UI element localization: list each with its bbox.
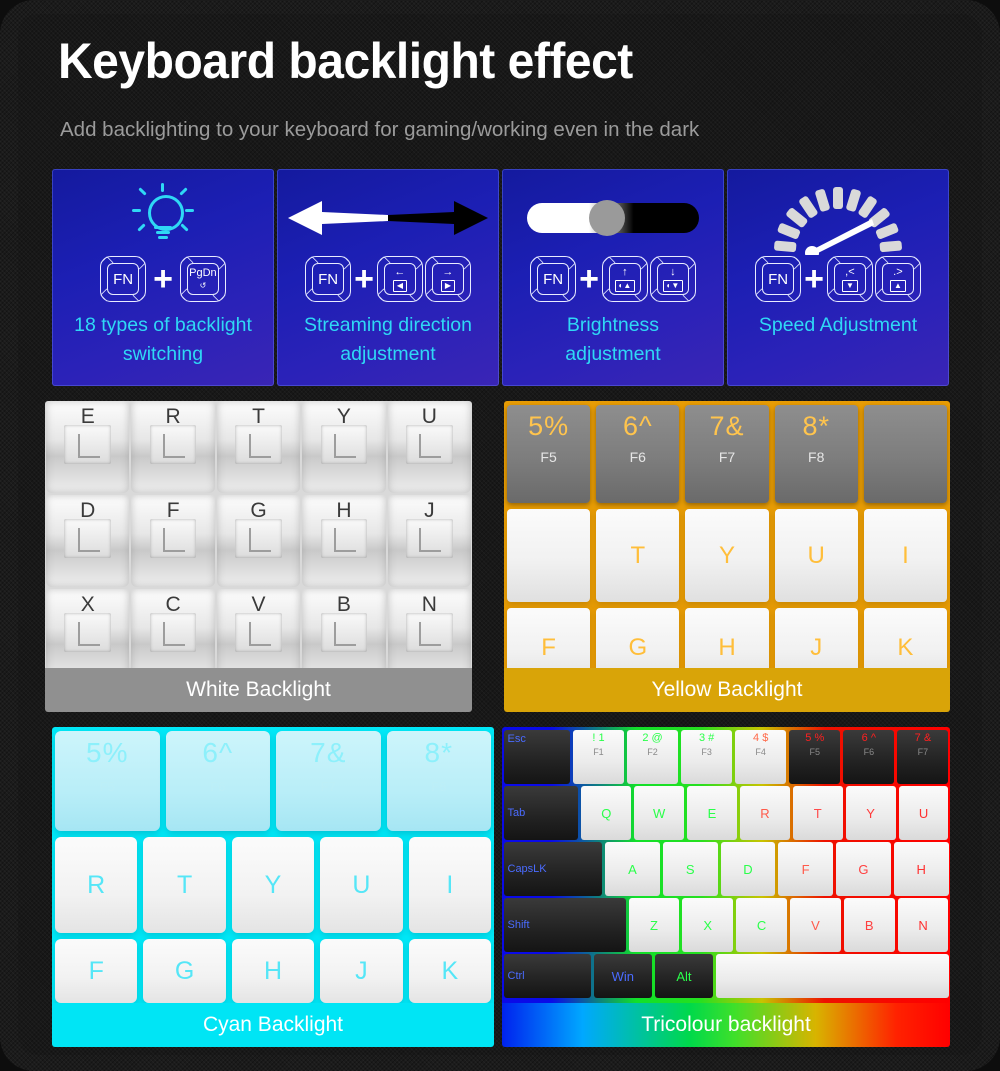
- feature-caption-1-line1: 18 types of backlight: [56, 311, 270, 340]
- keycap-secondary-label: F7: [276, 779, 381, 794]
- keycap: 7 &F7: [897, 730, 948, 784]
- keycap: T: [143, 837, 225, 933]
- keycap-secondary-label: F6: [596, 449, 679, 465]
- keycap: J: [775, 608, 858, 668]
- key-comma-less: ,< ▼: [827, 256, 873, 302]
- key-pgdn: PgDn ↺: [180, 256, 226, 302]
- switch-key: B: [302, 589, 385, 668]
- keycap-label: H: [685, 608, 768, 668]
- key-period-greater-label: .>: [893, 267, 902, 278]
- tile-caption-yellow: Yellow Backlight: [504, 668, 950, 712]
- key-arrow-left-label: ←: [394, 267, 405, 278]
- keycap-primary-label: ! 1: [573, 732, 624, 744]
- keycap: 6 ^F6: [843, 730, 894, 784]
- keycap: F: [778, 842, 833, 896]
- cyan-backlight-photo: 5%F56^F67&F78*F8 RTYUI FGHJK: [52, 727, 494, 1003]
- key-brightness-up-sub: ◐▲: [615, 280, 636, 292]
- keycap: 6^F6: [596, 405, 679, 503]
- keycap-primary-label: 8*: [387, 737, 492, 769]
- combo-plus: +: [354, 262, 374, 296]
- keycap-label: Y: [846, 786, 896, 840]
- switch-key: E: [46, 401, 129, 493]
- keycap-label: A: [605, 842, 660, 896]
- keycap-label: B: [844, 898, 895, 952]
- keycap: U: [320, 837, 402, 933]
- keycap: Ctrl: [504, 954, 591, 998]
- keycap: Shift: [504, 898, 626, 952]
- switch-key-label: Y: [302, 405, 385, 429]
- keycap-label: H: [894, 842, 949, 896]
- key-fn: FN: [530, 256, 576, 302]
- keycap-secondary-label: F7: [685, 449, 768, 465]
- keycap-secondary-label: F8: [387, 779, 492, 794]
- switch-key: F: [131, 495, 214, 587]
- switch-key: D: [46, 495, 129, 587]
- keycap-label: J: [320, 939, 402, 1003]
- keycap-label: F: [55, 939, 137, 1003]
- keycap: G: [143, 939, 225, 1003]
- keycap-label: T: [596, 509, 679, 602]
- keycap: I: [864, 509, 947, 602]
- keycap-secondary-label: F8: [775, 449, 858, 465]
- keycap: 8*F8: [775, 405, 858, 503]
- keycap-label: U: [320, 837, 402, 933]
- shortcut-combo-4: FN + ,< ▼ .> ▲: [727, 253, 949, 305]
- keycap-label: W: [634, 786, 684, 840]
- key-fn-label: FN: [537, 263, 569, 295]
- keycap-secondary-label: F5: [507, 449, 590, 465]
- keycap: [864, 405, 947, 503]
- feature-card-brightness[interactable]: FN + ↑ ◐▲ ↓ ◐▼: [502, 169, 724, 386]
- keycap: V: [790, 898, 841, 952]
- showcase-tile-yellow-backlight[interactable]: 5%F56^F67&F78*F8 TYUI FGHJK Yellow Backl…: [504, 401, 950, 712]
- keycap-label: G: [836, 842, 891, 896]
- keycap-secondary-label: F6: [843, 747, 894, 757]
- keycap-label: S: [663, 842, 718, 896]
- double-arrow-icon: [277, 179, 499, 257]
- showcase-tile-tricolour-backlight[interactable]: Esc! 1F12 @F23 #F34 $F45 %F56 ^F67 &F7 T…: [502, 727, 950, 1047]
- keycap: N: [898, 898, 949, 952]
- combo-plus: +: [579, 262, 599, 296]
- key-fn: FN: [100, 256, 146, 302]
- keycap: ! 1F1: [573, 730, 624, 784]
- keycap-label: Ctrl: [508, 970, 525, 982]
- white-backlight-photo: ERTYU DFGHJ XCVBN: [45, 401, 472, 668]
- keycap-label: Z: [629, 898, 680, 952]
- keycap: 8*F8: [387, 731, 492, 831]
- keycap: Z: [629, 898, 680, 952]
- keycap-label: Y: [685, 509, 768, 602]
- keycap: C: [736, 898, 787, 952]
- key-arrow-right-label: →: [442, 267, 453, 278]
- keycap: K: [864, 608, 947, 668]
- keycap-secondary-label: F6: [166, 779, 271, 794]
- keycap: R: [55, 837, 137, 933]
- keycap: Esc: [504, 730, 570, 784]
- keycap: F: [507, 608, 590, 668]
- feature-caption-2-line2: adjustment: [281, 340, 495, 369]
- switch-key: X: [46, 589, 129, 668]
- keycap-secondary-label: F4: [735, 747, 786, 757]
- keycap: T: [793, 786, 843, 840]
- key-speed-up-sub: ▲: [890, 280, 906, 292]
- key-arrow-right-sub: ▶: [441, 280, 455, 292]
- keycap-secondary-label: F5: [55, 779, 160, 794]
- keycap-primary-label: 8*: [775, 411, 858, 442]
- keycap: Win: [594, 954, 652, 998]
- key-fn-label: FN: [312, 263, 344, 295]
- switch-key: N: [388, 589, 471, 668]
- keycap: D: [721, 842, 776, 896]
- keycap-primary-label: 5%: [55, 737, 160, 769]
- keycap-label: H: [232, 939, 314, 1003]
- keycap-primary-label: 5%: [507, 411, 590, 442]
- keycap-label: X: [682, 898, 733, 952]
- key-fn: FN: [755, 256, 801, 302]
- switch-key-label: T: [217, 405, 300, 429]
- keycap: 3 #F3: [681, 730, 732, 784]
- keycap-label: G: [596, 608, 679, 668]
- key-arrow-up: ↑ ◐▲: [602, 256, 648, 302]
- keycap-label: I: [864, 509, 947, 602]
- keycap: E: [687, 786, 737, 840]
- key-arrow-left-sub: ◀: [393, 280, 407, 292]
- switch-key-label: X: [46, 593, 129, 617]
- keycap: 5 %F5: [789, 730, 840, 784]
- keycap-label: G: [143, 939, 225, 1003]
- speed-gauge-icon: [727, 179, 949, 257]
- keycap-label: Tab: [508, 807, 526, 819]
- keycap: Q: [581, 786, 631, 840]
- keycap-primary-label: 5 %: [789, 732, 840, 744]
- keycap: B: [844, 898, 895, 952]
- keycap: 4 $F4: [735, 730, 786, 784]
- keycap: Y: [232, 837, 314, 933]
- keycap-label: V: [790, 898, 841, 952]
- feature-card-speed[interactable]: FN + ,< ▼ .> ▲: [727, 169, 949, 386]
- keycap: [507, 509, 590, 602]
- keycap-label: U: [775, 509, 858, 602]
- keycap-label: [716, 954, 949, 998]
- keycap-primary-label: 6^: [166, 737, 271, 769]
- keycap: G: [596, 608, 679, 668]
- switch-key-label: V: [217, 593, 300, 617]
- keycap: H: [232, 939, 314, 1003]
- page-title: Keyboard backlight effect: [58, 32, 633, 90]
- keycap-label: F: [778, 842, 833, 896]
- keycap-primary-label: 2 @: [627, 732, 678, 744]
- combo-plus: +: [153, 262, 173, 296]
- keycap-label: Q: [581, 786, 631, 840]
- key-pgdn-label: PgDn: [189, 268, 217, 279]
- keycap: U: [899, 786, 949, 840]
- keycap: H: [685, 608, 768, 668]
- keycap-label: [507, 509, 590, 602]
- keycap-label: Win: [594, 954, 652, 998]
- switch-key-label: F: [131, 499, 214, 523]
- keycap-label: T: [793, 786, 843, 840]
- feature-caption-3-line1: Brightness: [506, 311, 720, 340]
- keycap: U: [775, 509, 858, 602]
- keycap: 5%F5: [507, 405, 590, 503]
- keycap: Y: [846, 786, 896, 840]
- keycap-secondary-label: F2: [627, 747, 678, 757]
- keycap-primary-label: 6^: [596, 411, 679, 442]
- key-fn: FN: [305, 256, 351, 302]
- keycap-secondary-label: F7: [897, 747, 948, 757]
- switch-key: C: [131, 589, 214, 668]
- switch-key: H: [302, 495, 385, 587]
- key-fn-label: FN: [107, 263, 139, 295]
- keycap: Alt: [655, 954, 713, 998]
- keycap: Y: [685, 509, 768, 602]
- keycap-label: Shift: [508, 919, 530, 931]
- keycap: A: [605, 842, 660, 896]
- tile-caption-cyan: Cyan Backlight: [52, 1003, 494, 1047]
- switch-key: Y: [302, 401, 385, 493]
- switch-key: V: [217, 589, 300, 668]
- feature-caption-2-line1: Streaming direction: [281, 311, 495, 340]
- showcase-tile-white-backlight[interactable]: ERTYU DFGHJ XCVBN White Backlight: [45, 401, 472, 712]
- shortcut-combo-1: FN + PgDn ↺: [52, 253, 274, 305]
- switch-key: J: [388, 495, 471, 587]
- key-arrow-left: ← ◀: [377, 256, 423, 302]
- switch-key-label: N: [388, 593, 471, 617]
- switch-key-label: J: [388, 499, 471, 523]
- key-fn-label: FN: [762, 263, 794, 295]
- keycap-label: F: [507, 608, 590, 668]
- keycap-primary-label: 7 &: [897, 732, 948, 744]
- keycap: 7&F7: [276, 731, 381, 831]
- feature-caption-1: 18 types of backlight switching: [56, 311, 270, 369]
- keycap-secondary-label: F1: [573, 747, 624, 757]
- switch-key: U: [388, 401, 471, 493]
- switch-key: R: [131, 401, 214, 493]
- keycap-label: K: [409, 939, 491, 1003]
- keycap: CapsLK: [504, 842, 603, 896]
- lightbulb-icon: [52, 179, 274, 257]
- keycap-label: D: [721, 842, 776, 896]
- key-arrow-up-label: ↑: [622, 267, 628, 278]
- key-arrow-down-label: ↓: [670, 267, 676, 278]
- keycap-primary-label: 7&: [276, 737, 381, 769]
- brightness-slider-icon: [502, 179, 724, 257]
- switch-key: T: [217, 401, 300, 493]
- keycap: H: [894, 842, 949, 896]
- keycap-primary-label: 4 $: [735, 732, 786, 744]
- keycap-primary-label: 6 ^: [843, 732, 894, 744]
- keycap-label: Esc: [508, 733, 526, 745]
- keycap: W: [634, 786, 684, 840]
- key-comma-less-label: ,<: [845, 267, 854, 278]
- keycap-label: Y: [232, 837, 314, 933]
- keycap-label: J: [775, 608, 858, 668]
- switch-key-label: C: [131, 593, 214, 617]
- keycap: [716, 954, 949, 998]
- keycap: F: [55, 939, 137, 1003]
- switch-key: G: [217, 495, 300, 587]
- keycap-primary-label: 7&: [685, 411, 768, 442]
- key-arrow-right: → ▶: [425, 256, 471, 302]
- keycap: T: [596, 509, 679, 602]
- keycap-label: N: [898, 898, 949, 952]
- keycap-label: K: [864, 608, 947, 668]
- key-brightness-down-sub: ◐▼: [663, 280, 684, 292]
- keycap-label: CapsLK: [508, 863, 547, 875]
- keycap-label: U: [899, 786, 949, 840]
- feature-caption-2: Streaming direction adjustment: [281, 311, 495, 369]
- keycap: S: [663, 842, 718, 896]
- keycap-secondary-label: F3: [681, 747, 732, 757]
- page-subtitle: Add backlighting to your keyboard for ga…: [60, 118, 699, 142]
- shortcut-combo-2: FN + ← ◀ → ▶: [277, 253, 499, 305]
- keycap-label: I: [409, 837, 491, 933]
- keycap: 7&F7: [685, 405, 768, 503]
- keycap-label: R: [740, 786, 790, 840]
- shortcut-combo-3: FN + ↑ ◐▲ ↓ ◐▼: [502, 253, 724, 305]
- key-speed-down-sub: ▼: [842, 280, 858, 292]
- key-arrow-down: ↓ ◐▼: [650, 256, 696, 302]
- tile-caption-white: White Backlight: [45, 668, 472, 712]
- keycap: Tab: [504, 786, 579, 840]
- keycap: J: [320, 939, 402, 1003]
- keycap: R: [740, 786, 790, 840]
- feature-caption-3-line2: adjustment: [506, 340, 720, 369]
- switch-key-label: E: [46, 405, 129, 429]
- switch-key-label: U: [388, 405, 471, 429]
- keycap: X: [682, 898, 733, 952]
- showcase-tile-cyan-backlight[interactable]: 5%F56^F67&F78*F8 RTYUI FGHJK Cyan Backli…: [52, 727, 494, 1047]
- tile-caption-tricolour: Tricolour backlight: [502, 1003, 950, 1047]
- feature-panel-row: FN + PgDn ↺ 18 types of backlight switch…: [52, 169, 949, 386]
- keycap: I: [409, 837, 491, 933]
- switch-key-label: G: [217, 499, 300, 523]
- switch-key-label: R: [131, 405, 214, 429]
- keycap-label: R: [55, 837, 137, 933]
- promo-page: Keyboard backlight effect Add backlighti…: [0, 0, 1000, 1071]
- yellow-backlight-photo: 5%F56^F67&F78*F8 TYUI FGHJK: [504, 401, 950, 668]
- feature-caption-4-line1: Speed Adjustment: [731, 311, 945, 340]
- feature-caption-4: Speed Adjustment: [731, 311, 945, 340]
- tricolour-backlight-photo: Esc! 1F12 @F23 #F34 $F45 %F56 ^F67 &F7 T…: [502, 727, 950, 1003]
- keycap-label: E: [687, 786, 737, 840]
- key-pgdn-sub: ↺: [197, 281, 210, 291]
- keycap: 2 @F2: [627, 730, 678, 784]
- keycap: 5%F5: [55, 731, 160, 831]
- feature-caption-3: Brightness adjustment: [506, 311, 720, 369]
- keycap: K: [409, 939, 491, 1003]
- slider-knob: [589, 200, 625, 236]
- feature-card-streaming-direction[interactable]: FN + ← ◀ → ▶: [277, 169, 499, 386]
- keycap-label: C: [736, 898, 787, 952]
- switch-key-label: H: [302, 499, 385, 523]
- feature-card-backlight-switching[interactable]: FN + PgDn ↺ 18 types of backlight switch…: [52, 169, 274, 386]
- keycap-primary-label: 3 #: [681, 732, 732, 744]
- keycap-label: T: [143, 837, 225, 933]
- combo-plus: +: [804, 262, 824, 296]
- key-period-greater: .> ▲: [875, 256, 921, 302]
- keycap-label: Alt: [655, 954, 713, 998]
- feature-caption-1-line2: switching: [56, 340, 270, 369]
- keycap-secondary-label: F5: [789, 747, 840, 757]
- switch-key-label: B: [302, 593, 385, 617]
- switch-key-label: D: [46, 499, 129, 523]
- keycap: G: [836, 842, 891, 896]
- keycap: 6^F6: [166, 731, 271, 831]
